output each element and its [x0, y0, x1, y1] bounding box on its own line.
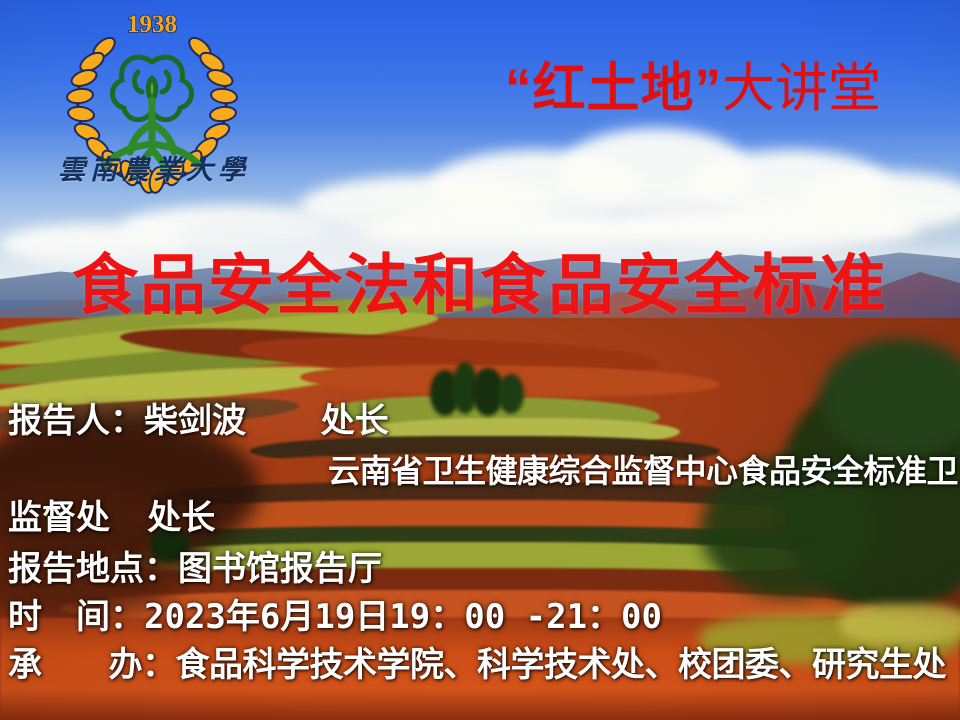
speaker-label: 报告人：: [8, 402, 144, 440]
speaker-line: 报告人：柴剑波处长: [8, 404, 960, 438]
organization-department: 监督处: [8, 499, 110, 537]
host-label: 承 办：: [8, 646, 176, 684]
time-value: 2023年6月19日19：00 -21：00: [144, 597, 662, 637]
time-line: 时 间：2023年6月19日19：00 -21：00: [8, 600, 960, 634]
poster-main-title: 食品安全法和食品安全标准: [0, 252, 960, 318]
speaker-name: 柴剑波: [144, 402, 246, 440]
svg-text:1938: 1938: [127, 11, 177, 38]
poster-details-block: 报告人：柴剑波处长 云南省卫生健康综合监督中心食品安全标准卫 监督处处长 报告地…: [8, 404, 960, 682]
time-label: 时 间：: [8, 597, 144, 637]
host-line: 承 办：食品科学技术学院、科学技术处、校团委、研究生处: [8, 648, 960, 682]
lecture-series-heading: “红土地”大讲堂: [505, 62, 881, 115]
venue-value: 图书馆报告厅: [178, 550, 382, 588]
venue-line: 报告地点：图书馆报告厅: [8, 552, 960, 586]
venue-label: 报告地点：: [8, 550, 178, 588]
lecture-series-quoted: “红土地”: [505, 59, 722, 118]
organization-line-2: 监督处处长: [8, 501, 960, 535]
host-value: 食品科学技术学院、科学技术处、校团委、研究生处: [176, 646, 947, 684]
lecture-series-suffix: 大讲堂: [722, 59, 881, 118]
speaker-rank: 处长: [321, 402, 389, 440]
poster-canvas: 1938: [0, 0, 960, 720]
organization-rank: 处长: [147, 499, 215, 537]
organization-line-1: 云南省卫生健康综合监督中心食品安全标准卫: [8, 455, 960, 487]
university-name-traditional: 雲南農業大學: [44, 148, 264, 187]
